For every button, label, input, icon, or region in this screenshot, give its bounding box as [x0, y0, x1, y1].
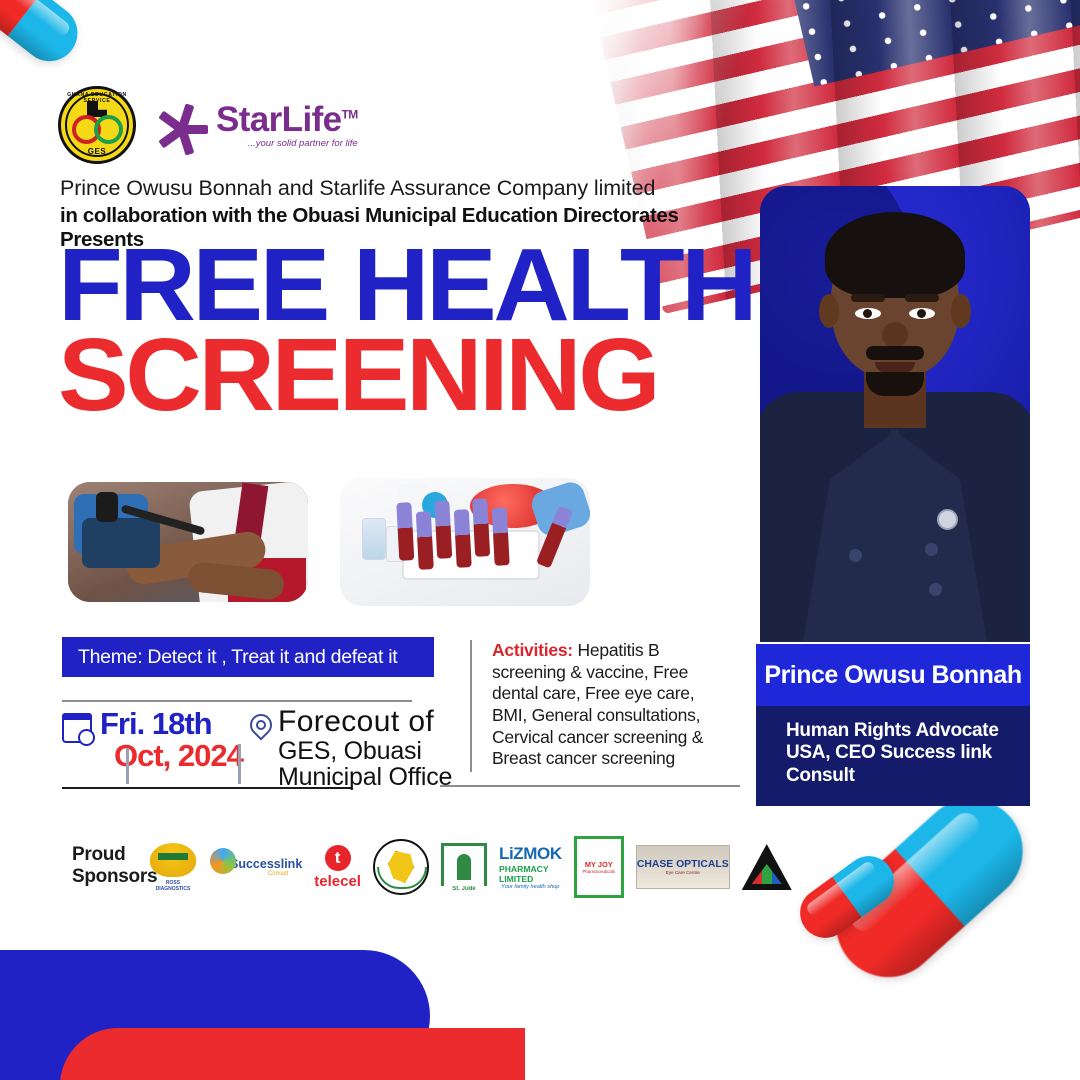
sponsor-sub-1: PHARMACY LIMITED [499, 864, 562, 884]
presenter-line-1: Prince Owusu Bonnah and Starlife Assuran… [60, 176, 720, 201]
event-day: Fri. 18th [100, 708, 243, 740]
location-pin-icon [248, 714, 270, 736]
page-title: FREE HEALTH SCREENING [58, 243, 734, 418]
sponsors-label-line-1: Proud [72, 844, 157, 866]
sponsor-logo-telecel: t telecel [314, 834, 361, 900]
theme-banner: Theme: Detect it , Treat it and defeat i… [62, 637, 434, 677]
sponsor-name: CHASE OPTICALS [637, 859, 729, 870]
starlife-name: StarLife [216, 100, 342, 139]
calendar-icon [62, 713, 92, 743]
sponsor-logo-chase-opticals: CHASE OPTICALS Eye Care Centre [636, 834, 730, 900]
trademark-mark: TM [342, 107, 358, 121]
starlife-logo: StarLifeTM ...your solid partner for lif… [154, 97, 358, 153]
sponsor-logo-lizmok: LiZMOK PHARMACY LIMITED Your family heal… [499, 834, 562, 900]
sponsor-name: St. Jude [452, 886, 475, 892]
sponsor-caption: ROSS DIAGNOSTICS [150, 880, 196, 892]
ges-logo-icon: GHANA EDUCATION SERVICE GES [58, 86, 136, 164]
photo-blood-pressure [68, 482, 308, 602]
venue-line-1: Forecout of [278, 706, 452, 738]
event-month-year: Oct, 2024 [100, 740, 243, 772]
title-line-1: FREE HEALTH [58, 243, 754, 327]
sponsor-name: MY JOY [585, 860, 613, 869]
venue-accent-bar [238, 744, 241, 784]
activities-divider-vertical [470, 640, 472, 772]
chase-frame-icon: CHASE OPTICALS Eye Care Centre [636, 845, 730, 889]
title-line-2: SCREENING [58, 333, 754, 417]
capsule-icon-top-left [0, 0, 89, 72]
sponsor-name: Successlink [230, 857, 302, 871]
sponsor-sub-2: Your family health shop [501, 884, 559, 890]
date-accent-bar [126, 748, 129, 784]
theme-text: Theme: Detect it , Treat it and defeat i… [78, 646, 397, 669]
flyer-canvas: GHANA EDUCATION SERVICE GES StarLifeTM .… [0, 0, 1080, 1080]
sponsor-sub: Pharmaceuticals [583, 869, 615, 874]
st-jude-icon [441, 843, 487, 886]
sponsor-name: telecel [314, 873, 361, 890]
event-date-block: Fri. 18th Oct, 2024 [62, 708, 243, 771]
star-icon [154, 97, 210, 153]
event-venue-block: Forecout of GES, Obuasi Municipal Office [248, 706, 452, 791]
sponsor-logo-ross-diagnostics: ROSS DIAGNOSTICS [150, 834, 196, 900]
ghs-seal-icon [373, 839, 429, 895]
speaker-role-band: Human Rights Advocate USA, CEO Success l… [756, 706, 1030, 806]
activities-label: Activities: [492, 640, 573, 660]
sponsor-logo-foundation [742, 834, 792, 900]
ges-logo-label: GES [61, 147, 133, 156]
date-divider-top [62, 700, 412, 702]
activities-divider-bottom [440, 785, 740, 787]
speaker-name: Prince Owusu Bonnah [764, 661, 1021, 690]
sponsor-logo-successlink: Successlink Consult [208, 834, 302, 900]
ross-mark-icon [150, 843, 196, 877]
photo-lab-samples [340, 478, 590, 606]
telecel-mark-icon: t [325, 845, 351, 871]
sponsor-sub: Eye Care Centre [666, 870, 700, 875]
sponsor-name: LiZMOK [499, 844, 562, 864]
globe-icon [210, 848, 236, 874]
sponsor-logo-st-jude: St. Jude [441, 834, 487, 900]
bottom-red-band [60, 1028, 525, 1080]
activities-block: Activities: Hepatitis B screening & vacc… [492, 640, 724, 770]
speaker-role: Human Rights Advocate USA, CEO Success l… [786, 720, 1030, 787]
logo-row: GHANA EDUCATION SERVICE GES StarLifeTM .… [58, 86, 358, 164]
sponsor-logo-ghana-health-service [373, 834, 429, 900]
sponsor-logo-row: ROSS DIAGNOSTICS Successlink Consult t t… [150, 832, 770, 902]
speaker-name-band: Prince Owusu Bonnah [756, 644, 1030, 706]
venue-line-2: GES, Obuasi [278, 738, 452, 765]
sponsor-logo-my-joy: MY JOY Pharmaceuticals [574, 834, 624, 900]
ges-rings-icon [72, 115, 123, 144]
my-joy-frame-icon: MY JOY Pharmaceuticals [574, 836, 624, 898]
starlife-tagline: ...your solid partner for life [216, 139, 358, 149]
venue-line-3: Municipal Office [278, 764, 452, 791]
sponsors-label-line-2: Sponsors [72, 866, 157, 888]
speaker-portrait [760, 186, 1030, 642]
sponsor-sub: Consult [268, 871, 288, 877]
sponsors-label: Proud Sponsors [72, 844, 157, 889]
triangle-logo-icon [742, 844, 792, 890]
